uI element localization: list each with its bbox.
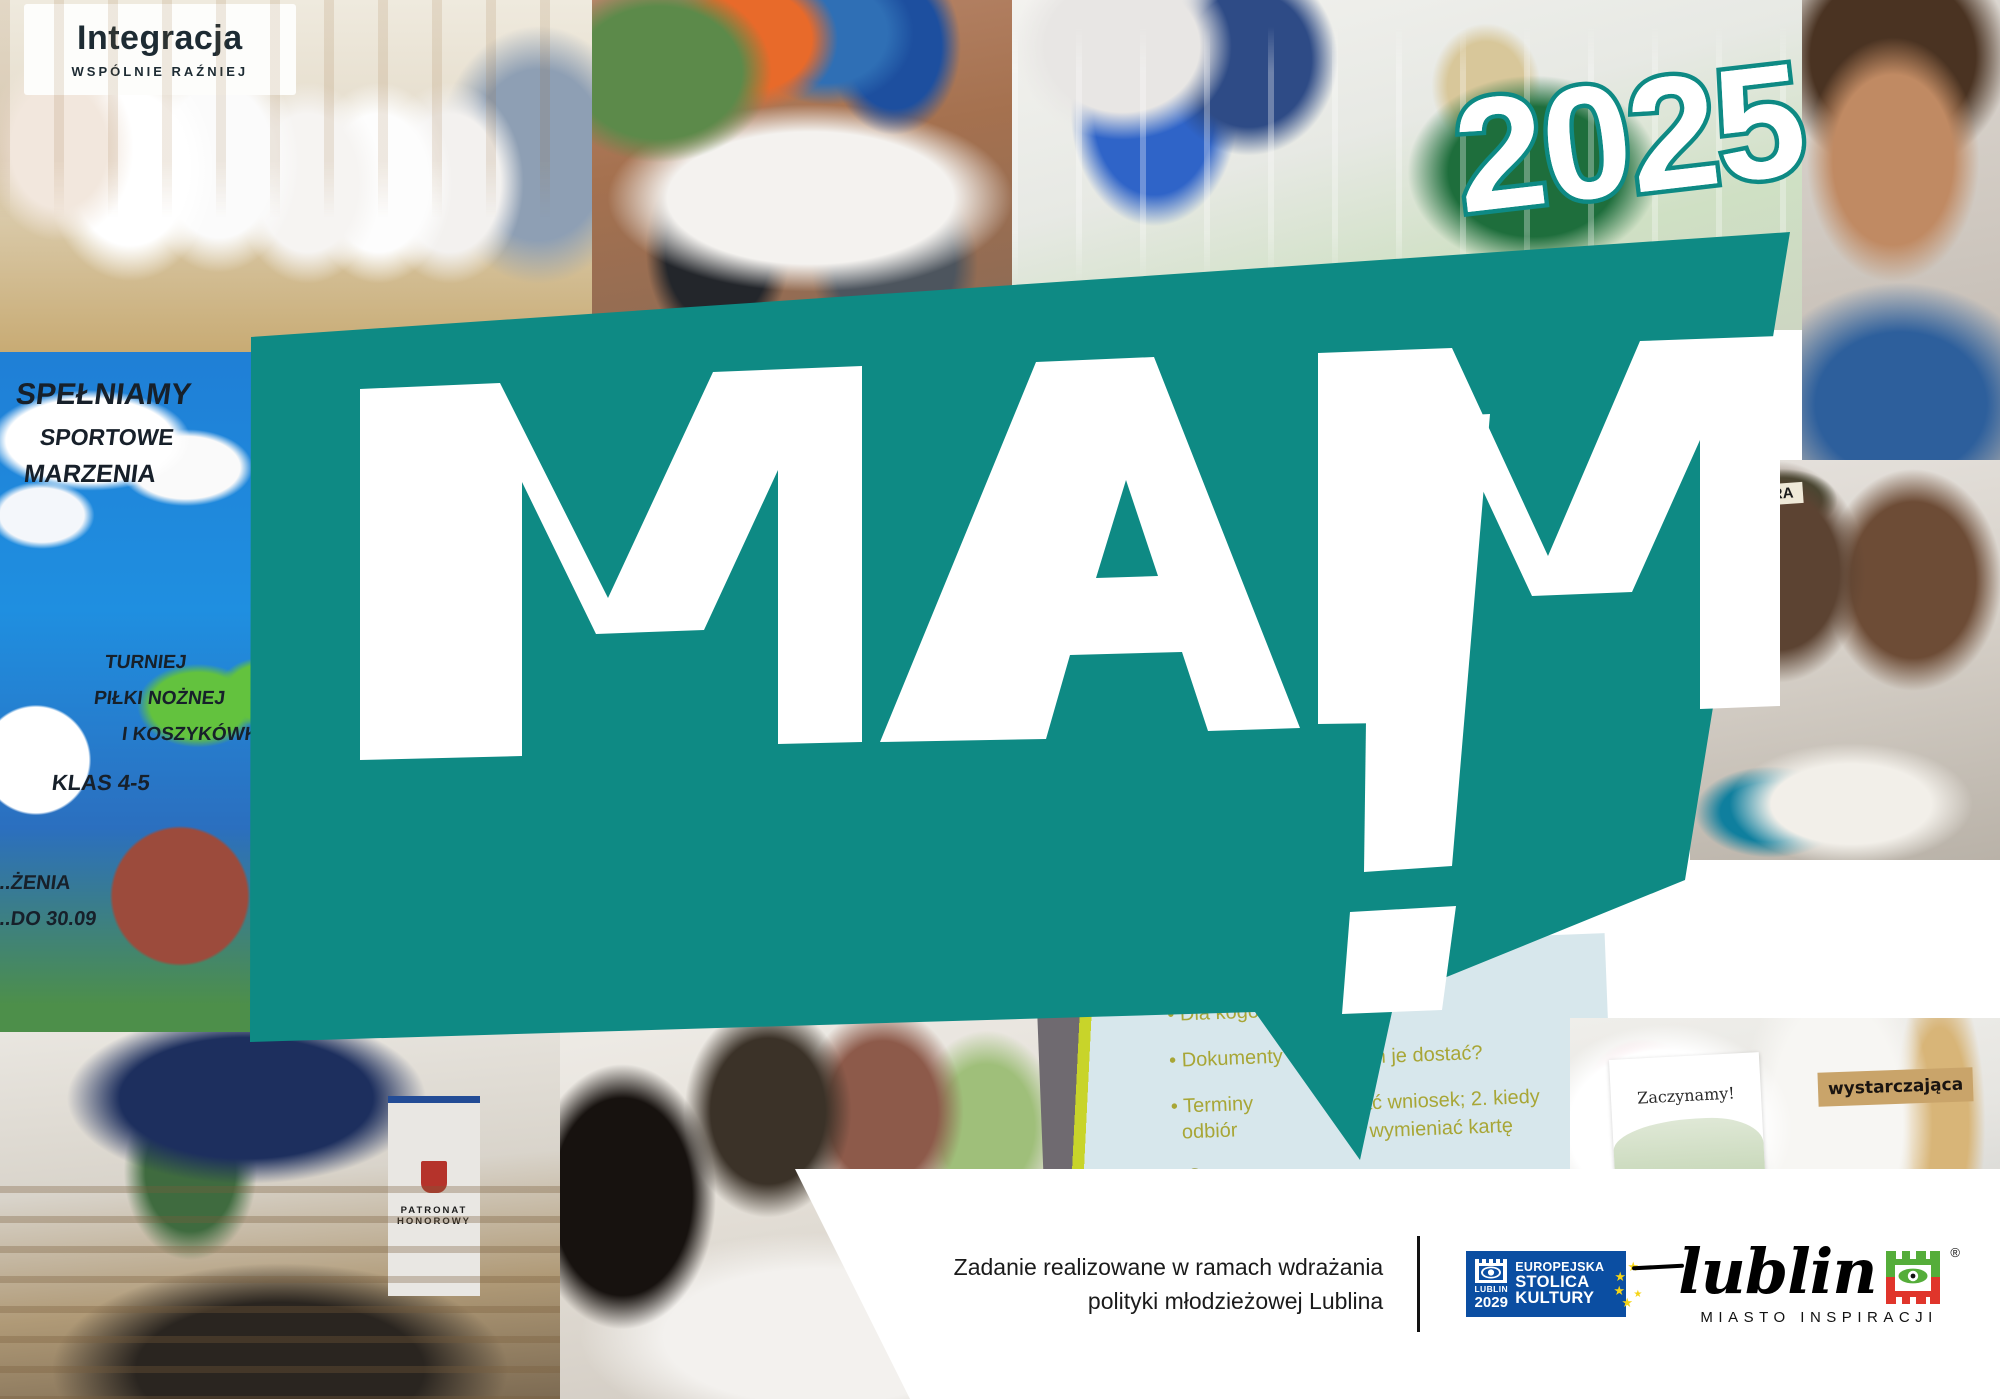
photo-lecture-auditorium: PATRONAT HONOROWY: [0, 1032, 560, 1399]
mural-line-6: I KOSZYKÓWKI: [121, 724, 265, 746]
mural-line-2: SPORTOWE: [38, 424, 175, 451]
mural-line-7: KLAS 4-5: [50, 770, 151, 796]
gym-banner-title: Integracja: [77, 19, 243, 58]
slide-fragment-2: ać wniosek; 2. kiedy: [1361, 1086, 1541, 1116]
esk-emblem: LUBLIN 2029: [1474, 1258, 1508, 1310]
esk-line-1: EUROPEJSKA: [1515, 1261, 1604, 1274]
esk-castle-eye-icon: [1474, 1258, 1508, 1284]
expo-board-text: Zaczynamy!: [1637, 1083, 1735, 1107]
photo-participant-portrait: [1802, 0, 2000, 470]
esk-year-label: 2029: [1475, 1295, 1508, 1310]
wordmark-letter-a: [880, 357, 1300, 742]
lecture-poster-line1: PATRONAT: [401, 1205, 468, 1216]
expo-sign-text: wystarczająca: [1817, 1067, 1973, 1106]
lublin-goat-eye-icon: [1882, 1249, 1944, 1305]
photo-craft-workshop-table: [592, 0, 1012, 330]
slide-bullet-4: odbiór: [1181, 1119, 1237, 1144]
esk-wordmark: EUROPEJSKA STOLICA KULTURY: [1515, 1261, 1604, 1307]
mural-line-1: SPEŁNIAMY: [14, 378, 193, 412]
mural-line-3: MARZENIA: [22, 460, 157, 489]
mural-line-9: ...DO 30.09: [0, 908, 98, 931]
wordmark-letter-m1: [360, 366, 862, 760]
mural-line-5: PIŁKI NOŻNEJ: [93, 688, 227, 710]
esk-city-label: LUBLIN: [1474, 1285, 1508, 1294]
photo-gym-medal-ceremony: Integracja WSPÓLNIE RAŹNIEJ: [0, 0, 592, 352]
photo-sewing-workshop: SARA: [1690, 460, 2000, 860]
slide-bullet-1: • Dla kogo: [1167, 1000, 1259, 1026]
poster-canvas: Integracja WSPÓLNIE RAŹNIEJ SPEŁNIAMY SP…: [0, 0, 2000, 1399]
sewing-name-tag: SARA: [1741, 482, 1803, 507]
slide-bullet-3: • Terminy: [1171, 1093, 1254, 1119]
mural-line-4: TURNIEJ: [104, 652, 188, 674]
year-label: 2025: [1447, 39, 1811, 238]
lublin-wordmark: lublin: [1678, 1243, 1876, 1302]
mural-line-8: ...ŻENIA: [0, 872, 72, 895]
esk-line-2: STOLICA: [1515, 1274, 1604, 1291]
lecture-poster-line2: HONOROWY: [397, 1216, 471, 1227]
photo-sports-dreams-mural: SPEŁNIAMY SPORTOWE MARZENIA TURNIEJ PIŁK…: [0, 352, 300, 1032]
slide-fragment-1: m je dostać?: [1369, 1042, 1483, 1069]
gym-banner-subtitle: WSPÓLNIE RAŹNIEJ: [72, 64, 249, 79]
slide-fragment-3: y wymieniać kartę: [1354, 1115, 1514, 1144]
esk-lublin-2029-logo[interactable]: LUBLIN 2029 EUROPEJSKA STOLICA KULTURY ★…: [1466, 1251, 1626, 1317]
exclamation-stem: [1364, 414, 1490, 872]
lublin-city-logo[interactable]: lublin: [1678, 1243, 1960, 1326]
lublin-registered-mark: ®: [1950, 1245, 1960, 1260]
footer-divider: [1417, 1236, 1420, 1332]
esk-line-3: KULTURY: [1515, 1290, 1604, 1307]
slide-bullet-2: • Dokumenty: [1169, 1046, 1284, 1073]
footer-credit-text: Zadanie realizowane w ramach wdrażania p…: [954, 1250, 1418, 1319]
lublin-tagline: MIASTO INSPIRACJI: [1700, 1309, 1937, 1326]
